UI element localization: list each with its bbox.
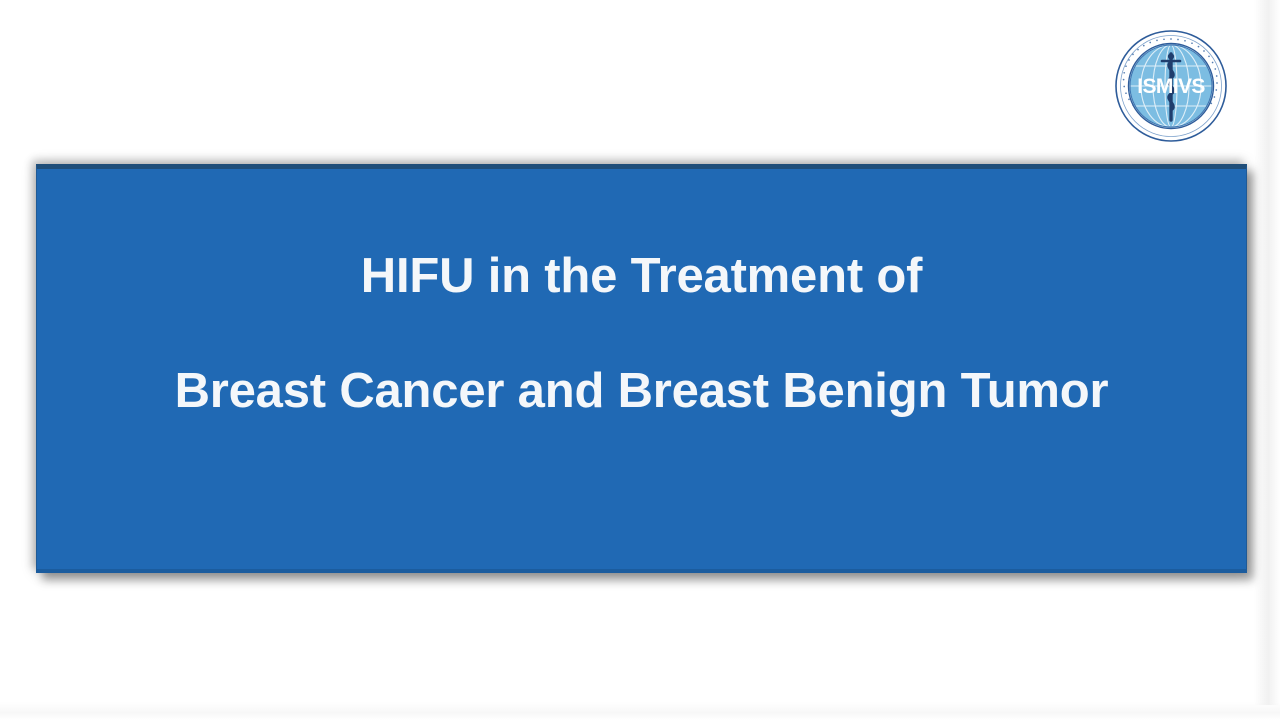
slide-canvas: ISMIVS HIFU in the Treatment of Breast C… [0,0,1280,720]
title-banner: HIFU in the Treatment of Breast Cancer a… [36,164,1247,573]
slide-title: HIFU in the Treatment of Breast Cancer a… [37,252,1246,416]
ismivs-logo-icon: ISMIVS [1113,28,1229,144]
ismivs-logo: ISMIVS [1113,28,1229,144]
ismivs-wordmark: ISMIVS [1137,75,1205,98]
slide-bottom-edge-shading [0,702,1280,720]
slide-right-edge-shading [1254,0,1280,705]
title-line-1: HIFU in the Treatment of [37,252,1246,301]
title-line-2: Breast Cancer and Breast Benign Tumor [37,367,1246,416]
title-line-spacer [37,301,1246,367]
